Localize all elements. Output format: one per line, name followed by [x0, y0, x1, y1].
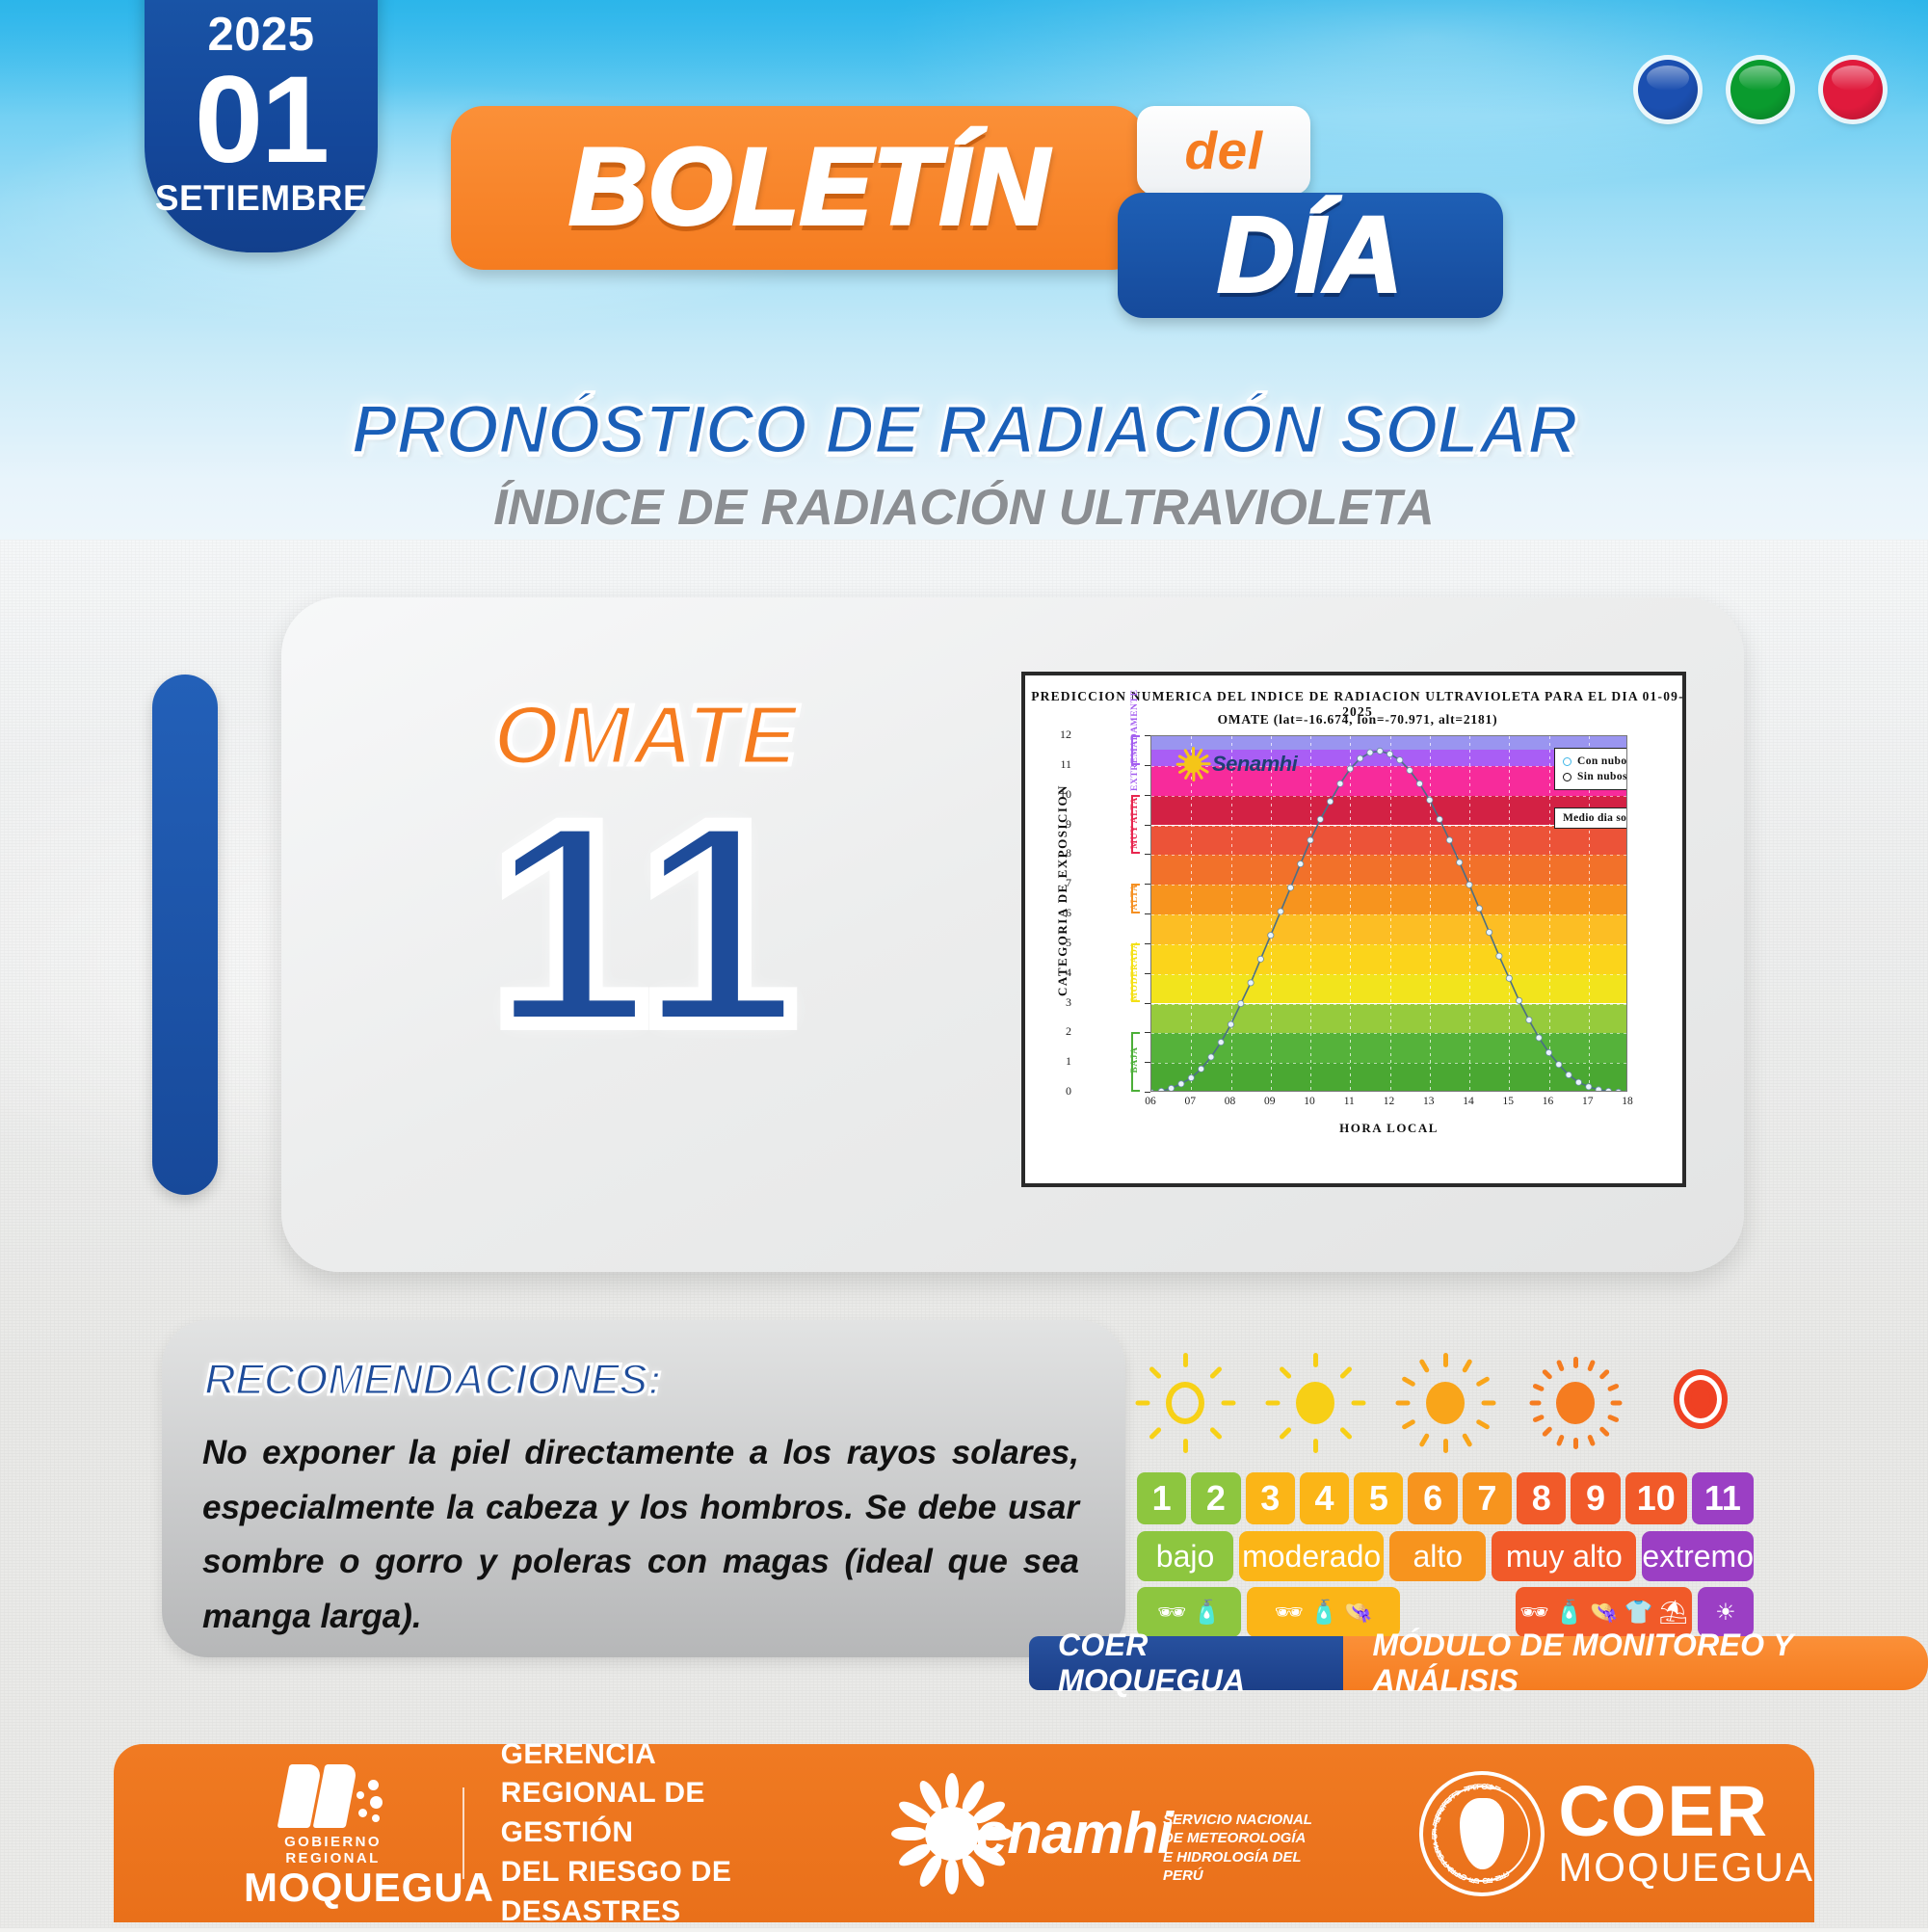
- coer-seal-ring-text: CENTRO DE OPERACIONES DE EMERGENCIA REGI…: [1423, 1775, 1541, 1892]
- x-tick-label: 11: [1330, 1096, 1368, 1107]
- senamhi-watermark: Senamhi: [1176, 748, 1297, 781]
- coer-acronym: COER: [1558, 1779, 1814, 1844]
- x-tick-label: 16: [1529, 1096, 1568, 1107]
- uv-scale-number: 11: [1692, 1472, 1754, 1524]
- uv-scale-category: bajo: [1137, 1531, 1233, 1581]
- x-tick-label: 18: [1608, 1096, 1647, 1107]
- y-tick-mark: [1145, 765, 1150, 766]
- uv-scale-number: 3: [1246, 1472, 1295, 1524]
- senamhi-logo: Senamhi SERVICIO NACIONAL DE METEOROLOGÍ…: [895, 1777, 1331, 1891]
- no-sun-icon: ☀: [1715, 1599, 1736, 1627]
- umbrella-icon: ⛱: [1658, 1599, 1687, 1627]
- y-tick-mark: [1145, 913, 1150, 914]
- dot-red: [1823, 60, 1883, 119]
- dot-green: [1730, 60, 1790, 119]
- x-tick-label: 14: [1449, 1096, 1488, 1107]
- coer-seal-icon: CENTRO DE OPERACIONES DE EMERGENCIA REGI…: [1419, 1771, 1545, 1896]
- uv-index-value: 11: [347, 779, 944, 1068]
- glasses-icon: 🕶: [1274, 1599, 1303, 1627]
- y-tick-mark: [1145, 825, 1150, 826]
- del-label: del: [1185, 119, 1263, 181]
- y-tick-label: 1: [1021, 1054, 1071, 1069]
- grd-text: GERENCIA REGIONAL DE GESTIÓN DEL RIESGO …: [501, 1735, 770, 1932]
- x-tick-label: 07: [1171, 1096, 1209, 1107]
- sunscreen-icon: 🧴: [1555, 1599, 1584, 1627]
- uv-scale-category: extremo: [1642, 1531, 1754, 1581]
- y-tick-mark: [1145, 1062, 1150, 1063]
- uv-forecast-chart: PREDICCION NUMERICA DEL INDICE DE RADIAC…: [1021, 672, 1686, 1187]
- legend-item: Sin nubosidad: [1563, 769, 1627, 784]
- date-month: SETIEMBRE: [155, 180, 367, 216]
- uv-scale-numbers: 1234567891011: [1137, 1472, 1754, 1524]
- sun-extreme-icon: [1657, 1351, 1754, 1455]
- coer-banner-left: COER MOQUEGUA: [1029, 1636, 1343, 1690]
- recommendations-text: No exponer la piel directamente a los ra…: [202, 1426, 1079, 1645]
- sun-intensity-icons: [1137, 1351, 1754, 1455]
- y-tick-mark: [1145, 854, 1150, 855]
- hat-icon: 👒: [1590, 1599, 1619, 1627]
- x-tick-label: 15: [1489, 1096, 1527, 1107]
- y-tick-mark: [1145, 795, 1150, 796]
- y-tick-mark: [1145, 1092, 1150, 1093]
- dia-title: DÍA: [1118, 191, 1503, 320]
- accent-bar: [152, 675, 218, 1195]
- legend-label: Sin nubosidad: [1577, 771, 1627, 782]
- grd-line-2: DEL RIESGO DE DESASTRES: [501, 1853, 770, 1932]
- uv-scale-category: moderado: [1239, 1531, 1384, 1581]
- y-tick-mark: [1145, 735, 1150, 736]
- uv-scale-category: alto: [1389, 1531, 1486, 1581]
- gore-mark-icon: [244, 1759, 422, 1828]
- uv-scale-number: 4: [1300, 1472, 1349, 1524]
- solar-noon-annotation: Medio dia solar: 11:44: [1554, 807, 1627, 829]
- category-label: EXTREMADAMENTE: [1130, 704, 1140, 791]
- y-tick-mark: [1145, 884, 1150, 885]
- chart-plot-area: Senamhi Con nubosidadSin nubosidad Medio…: [1150, 735, 1627, 1092]
- sun-medium-icon: [1397, 1351, 1493, 1455]
- uv-scale-categories: bajomoderadoaltomuy altoextremo: [1137, 1531, 1754, 1581]
- x-tick-label: 17: [1569, 1096, 1607, 1107]
- y-tick-mark: [1145, 1003, 1150, 1004]
- category-label: MODERADA: [1130, 928, 1140, 1015]
- gore-subtitle: GOBIERNO REGIONAL: [244, 1834, 422, 1866]
- chart-x-axis-label: HORA LOCAL: [1150, 1121, 1627, 1136]
- glasses-icon: 🕶: [1519, 1599, 1548, 1627]
- y-tick-mark: [1145, 973, 1150, 974]
- uv-scale-number: 6: [1408, 1472, 1457, 1524]
- chart-subtitle: OMATE (lat=-16.674, lon=-70.971, alt=218…: [1025, 712, 1686, 728]
- senamhi-tagline-1: SERVICIO NACIONAL DE METEOROLOGÍA: [1163, 1811, 1331, 1848]
- x-tick-label: 12: [1370, 1096, 1409, 1107]
- x-tick-label: 10: [1290, 1096, 1329, 1107]
- uv-scale-number: 5: [1354, 1472, 1403, 1524]
- x-tick-label: 08: [1211, 1096, 1250, 1107]
- legend-marker-icon: [1563, 773, 1571, 781]
- shirt-icon: 👕: [1624, 1599, 1652, 1627]
- uv-scale-number: 10: [1625, 1472, 1687, 1524]
- category-label: MUY ALTA: [1130, 780, 1140, 866]
- legend-label: Con nubosidad: [1577, 755, 1627, 767]
- y-tick-label: 0: [1021, 1084, 1071, 1098]
- uv-index-scale: 1234567891011 bajomoderadoaltomuy altoex…: [1137, 1472, 1754, 1637]
- uv-scale-number: 9: [1571, 1472, 1620, 1524]
- gobierno-regional-logo: GOBIERNO REGIONAL MOQUEGUA: [244, 1759, 422, 1908]
- uv-scale-number: 2: [1191, 1472, 1240, 1524]
- senamhi-sun-icon-footer: [895, 1777, 960, 1891]
- page-subtitle: ÍNDICE DE RADIACIÓN ULTRAVIOLETA: [0, 479, 1928, 537]
- gore-sun-dots-icon: [355, 1778, 383, 1828]
- footer-divider: [462, 1787, 464, 1879]
- chart-y-axis-label: CATEGORIA DE EXPOSICION: [1055, 731, 1070, 1049]
- sunscreen-icon: 🧴: [1192, 1599, 1221, 1627]
- y-tick-mark: [1145, 943, 1150, 944]
- del-tag: del: [1137, 106, 1310, 195]
- uv-scale-number: 7: [1463, 1472, 1512, 1524]
- hat-icon: 👒: [1344, 1599, 1373, 1627]
- senamhi-sun-icon: [1176, 748, 1209, 781]
- uv-scale-number: 8: [1517, 1472, 1566, 1524]
- x-tick-label: 13: [1410, 1096, 1448, 1107]
- legend-item: Con nubosidad: [1563, 754, 1627, 769]
- coer-logo: CENTRO DE OPERACIONES DE EMERGENCIA REGI…: [1419, 1771, 1814, 1896]
- y-tick-mark: [1145, 1032, 1150, 1033]
- boletin-title: BOLETÍN: [520, 123, 1098, 251]
- coer-banner-right: MÓDULO DE MONITOREO Y ANÁLISIS: [1343, 1636, 1928, 1690]
- date-badge: 2025 01 SETIEMBRE: [145, 0, 378, 252]
- category-label: BAJA: [1130, 1017, 1140, 1103]
- senamhi-watermark-text: Senamhi: [1212, 752, 1297, 777]
- x-tick-label: 09: [1251, 1096, 1289, 1107]
- page-title: PRONÓSTICO DE RADIACIÓN SOLAR: [0, 391, 1928, 469]
- uv-scale-category: muy alto: [1492, 1531, 1636, 1581]
- sunscreen-icon: 🧴: [1309, 1599, 1338, 1627]
- senamhi-tagline: SERVICIO NACIONAL DE METEOROLOGÍA E HIDR…: [1163, 1811, 1331, 1886]
- coer-banner: COER MOQUEGUA MÓDULO DE MONITOREO Y ANÁL…: [1029, 1636, 1928, 1690]
- gore-name: MOQUEGUA: [244, 1867, 422, 1908]
- grd-line-1: GERENCIA REGIONAL DE GESTIÓN: [501, 1735, 770, 1853]
- coer-city: MOQUEGUA: [1558, 1847, 1814, 1888]
- uv-scale-number: 1: [1137, 1472, 1186, 1524]
- chart-legend: Con nubosidadSin nubosidad: [1554, 748, 1627, 790]
- dot-blue: [1638, 60, 1698, 119]
- color-dots: [1638, 60, 1883, 119]
- glasses-icon: 🕶: [1157, 1599, 1186, 1627]
- sun-outline-icon: [1137, 1351, 1233, 1455]
- legend-marker-icon: [1563, 757, 1571, 766]
- footer: GOBIERNO REGIONAL MOQUEGUA GERENCIA REGI…: [114, 1744, 1814, 1922]
- category-label: ALTA: [1130, 854, 1140, 940]
- sun-small-icon: [1267, 1351, 1363, 1455]
- recommendations-title: RECOMENDACIONES:: [204, 1355, 662, 1405]
- senamhi-tagline-2: E HIDROLOGÍA DEL PERÚ: [1163, 1848, 1331, 1886]
- date-day: 01: [195, 63, 328, 178]
- sun-large-icon: [1527, 1351, 1624, 1455]
- seal-char: O: [1481, 1877, 1491, 1884]
